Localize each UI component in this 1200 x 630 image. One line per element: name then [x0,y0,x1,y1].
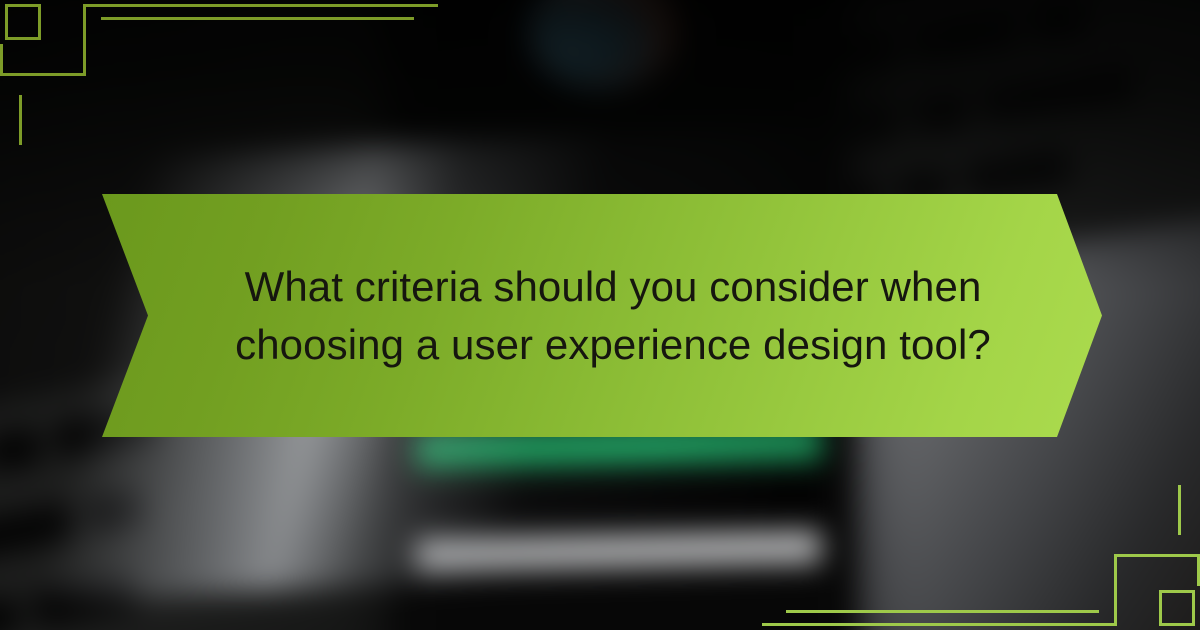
ornament-line [1178,485,1181,535]
ornament-line [0,44,3,76]
ornament-line [101,17,414,20]
ornament-line [83,4,438,7]
corner-ornament-top-left [0,0,450,150]
ornament-square-icon [5,4,41,40]
ornament-line [1114,554,1200,557]
social-share-card: What criteria should you consider when c… [0,0,1200,630]
ornament-square-icon [1159,590,1195,626]
ornament-line [0,73,86,76]
ornament-line [19,95,22,145]
headline-text: What criteria should you consider when c… [203,258,1023,374]
ornament-line [762,623,1117,626]
ornament-line [83,4,86,76]
corner-ornament-bottom-right [750,480,1200,630]
headline-banner: What criteria should you consider when c… [102,194,1102,437]
ornament-line [786,610,1099,613]
ornament-line [1114,554,1117,626]
